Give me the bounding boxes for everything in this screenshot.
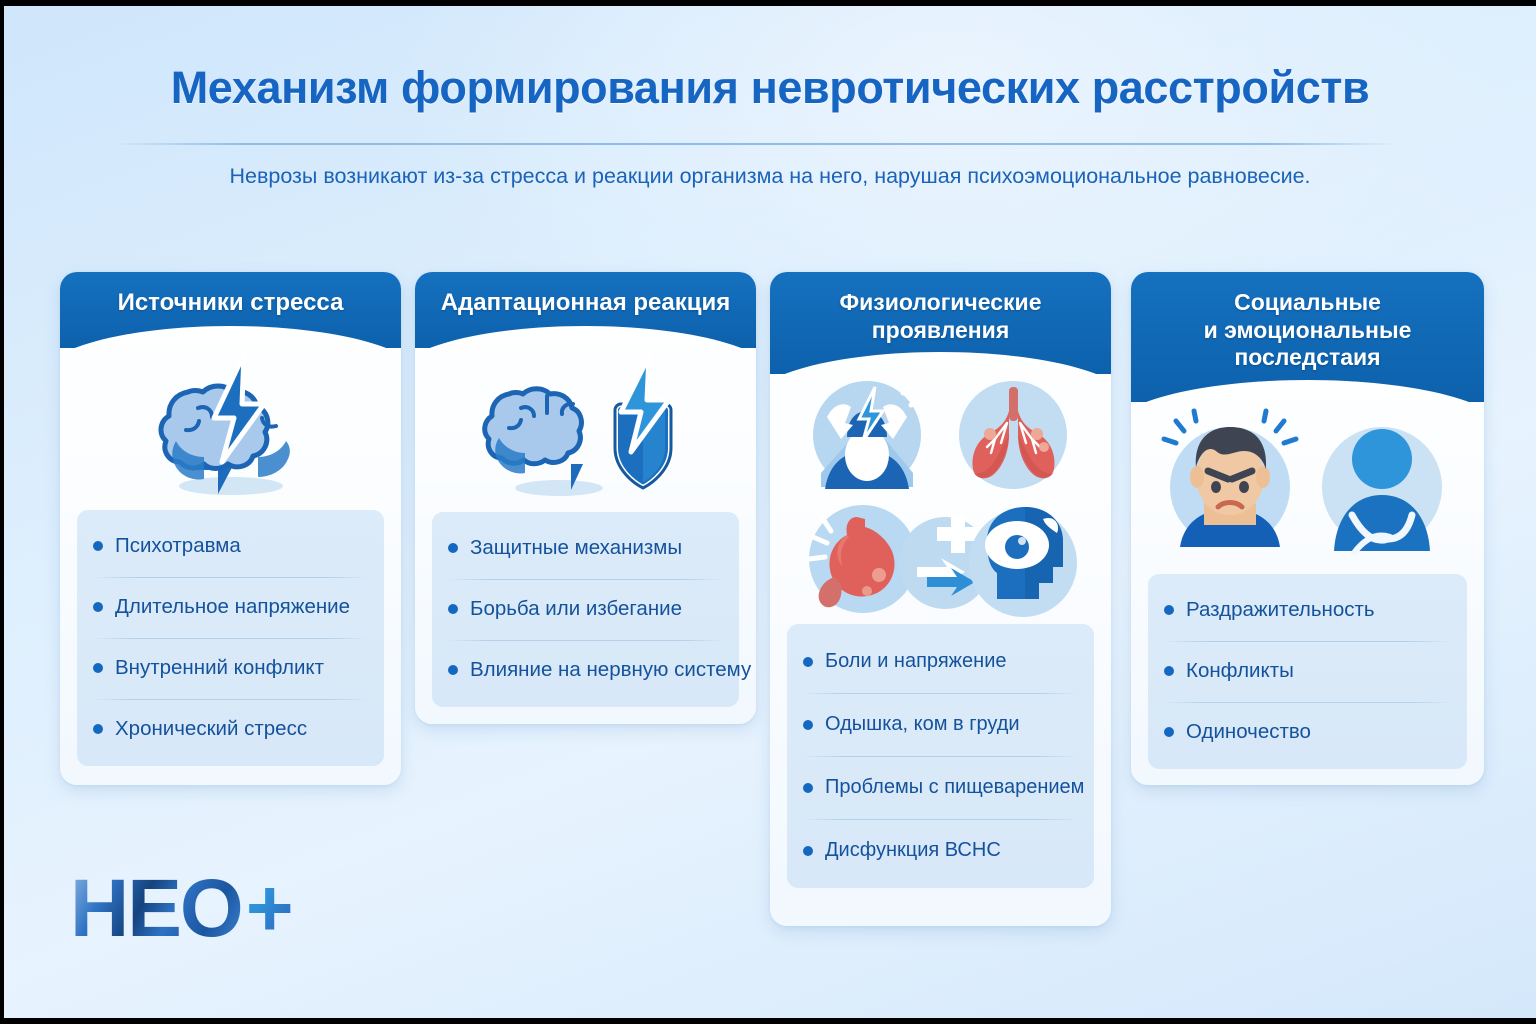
card-icon-area (1131, 410, 1484, 562)
card-title: Источники стресса (74, 289, 387, 318)
brain-lightning-icon (126, 352, 336, 502)
list-item[interactable]: Борьба или избегание (432, 579, 739, 640)
bullet-icon (448, 665, 458, 675)
card-icon-area (415, 352, 756, 502)
brain-shield-lightning-icon (461, 352, 711, 502)
card-list: Боли и напряжение Одышка, ком в груди Пр… (787, 624, 1094, 888)
page-subtitle: Неврозы возникают из-за стресса и реакци… (4, 164, 1536, 189)
headache-person-icon (813, 381, 923, 489)
card-header: Социальные и эмоциональные последстаия (1131, 272, 1484, 402)
card-title-line3: последстаия (1234, 344, 1380, 370)
bullet-icon (803, 783, 813, 793)
card-fiziologicheskie-proyavleniya: Физиологические проявления (770, 272, 1111, 926)
card-title: Физиологические проявления (784, 289, 1097, 344)
bullet-icon (93, 724, 103, 734)
card-list: Раздражительность Конфликты Одиночество (1148, 574, 1467, 769)
list-item-label: Хронический стресс (115, 717, 307, 741)
logo-plus-icon: + (246, 868, 292, 950)
card-title-line1: Физиологические (840, 289, 1042, 315)
bullet-icon (93, 663, 103, 673)
bullet-icon (448, 543, 458, 553)
bullet-icon (803, 657, 813, 667)
card-icon-area (770, 376, 1111, 618)
list-item-label: Длительное напряжение (115, 595, 350, 619)
card-header: Источники стресса (60, 272, 401, 348)
logo-wordmark: НЕО (70, 868, 242, 950)
physiological-icons-group (791, 377, 1091, 617)
card-title-line2: и эмоциональные (1204, 317, 1412, 343)
card-list: Защитные механизмы Борьба или избегание … (432, 512, 739, 707)
list-item-label: Проблемы с пищеварением (825, 776, 1084, 799)
list-item[interactable]: Влияние на нервную систему (432, 640, 739, 701)
list-item-label: Одышка, ком в груди (825, 713, 1020, 736)
card-icon-area (60, 352, 401, 502)
list-item[interactable]: Одиночество (1148, 702, 1467, 763)
lonely-person-icon (1322, 427, 1442, 553)
card-header: Адаптационная реакция (415, 272, 756, 348)
brand-logo: НЕО + (70, 868, 292, 950)
list-item[interactable]: Одышка, ком в груди (787, 693, 1094, 756)
title-divider (112, 143, 1399, 145)
list-item[interactable]: Раздражительность (1148, 580, 1467, 641)
list-item[interactable]: Проблемы с пищеварением (787, 756, 1094, 819)
social-icons-group (1158, 411, 1458, 561)
lungs-icon (959, 381, 1067, 489)
card-istochniki-stressa: Источники стресса (60, 272, 401, 785)
list-item-label: Одиночество (1186, 720, 1311, 744)
angry-person-icon (1164, 411, 1296, 547)
bullet-icon (1164, 727, 1174, 737)
list-item[interactable]: Психотравма (77, 516, 384, 577)
bullet-icon (93, 541, 103, 551)
bullet-icon (803, 720, 813, 730)
card-title: Социальные и эмоциональные последстаия (1145, 289, 1470, 372)
list-item[interactable]: Длительное напряжение (77, 577, 384, 638)
bullet-icon (448, 604, 458, 614)
card-socialnye-i-emocionalnye-posledstaia: Социальные и эмоциональные последстаия (1131, 272, 1484, 785)
bullet-icon (1164, 666, 1174, 676)
list-item-label: Психотравма (115, 534, 241, 558)
bullet-icon (803, 846, 813, 856)
bullet-icon (1164, 605, 1174, 615)
card-adaptacionnaya-reakciya: Адаптационная реакция (415, 272, 756, 724)
card-title: Адаптационная реакция (429, 289, 742, 318)
card-list: Психотравма Длительное напряжение Внутре… (77, 510, 384, 766)
list-item[interactable]: Внутренний конфликт (77, 638, 384, 699)
list-item-label: Конфликты (1186, 659, 1294, 683)
card-title-line2: проявления (872, 317, 1010, 343)
list-item-label: Борьба или избегание (470, 597, 682, 621)
list-item[interactable]: Хронический стресс (77, 699, 384, 760)
list-item[interactable]: Дисфункция ВСНС (787, 819, 1094, 882)
list-item-label: Раздражительность (1186, 598, 1375, 622)
card-header: Физиологические проявления (770, 272, 1111, 374)
bullet-icon (93, 602, 103, 612)
infographic-canvas: Механизм формирования невротических расс… (4, 6, 1536, 1018)
list-item-label: Защитные механизмы (470, 536, 682, 560)
list-item-label: Боли и напряжение (825, 650, 1007, 673)
list-item-label: Дисфункция ВСНС (825, 839, 1001, 862)
list-item-label: Внутренний конфликт (115, 656, 324, 680)
list-item[interactable]: Конфликты (1148, 641, 1467, 702)
list-item[interactable]: Защитные механизмы (432, 518, 739, 579)
card-title-line1: Социальные (1234, 289, 1381, 315)
head-eye-icon (969, 507, 1077, 617)
list-item-label: Влияние на нервную систему (470, 658, 751, 682)
list-item[interactable]: Боли и напряжение (787, 630, 1094, 693)
page-title: Механизм формирования невротических расс… (4, 62, 1536, 114)
